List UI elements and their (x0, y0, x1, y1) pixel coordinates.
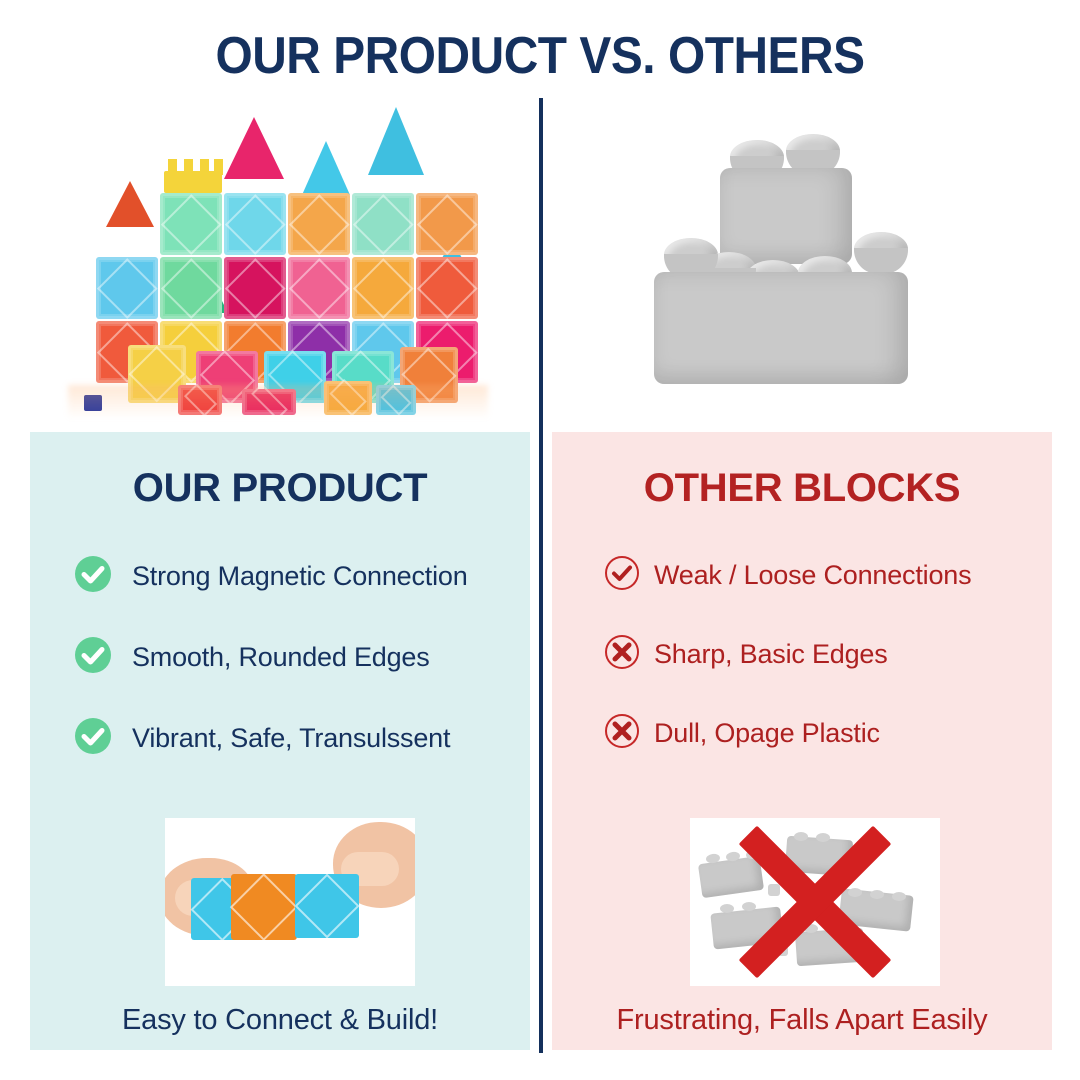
our-product-caption: Easy to Connect & Build! (30, 1004, 530, 1037)
list-item: Sharp, Basic Edges (604, 634, 1052, 675)
page-title: OUR PRODUCT VS. OTHERS (43, 26, 1037, 86)
hero-row (0, 92, 1080, 437)
list-item-label: Vibrant, Safe, Transulssent (132, 723, 450, 754)
list-item-label: Sharp, Basic Edges (654, 639, 888, 670)
list-item: Dull, Opage Plastic (604, 713, 1052, 754)
our-product-panel: OUR PRODUCT Strong Magnetic Connection (30, 432, 530, 1050)
castle-illustration (28, 92, 528, 419)
list-item-label: Smooth, Rounded Edges (132, 642, 430, 673)
mini-tile-orange (231, 874, 297, 940)
check-circle-outline-icon (604, 555, 640, 596)
check-circle-filled-icon (74, 555, 112, 598)
x-circle-outline-icon (604, 634, 640, 675)
other-blocks-feature-list: Weak / Loose Connections Sharp, Basic Ed… (552, 555, 1052, 754)
gray-bricks-illustration (648, 120, 968, 410)
list-item: Weak / Loose Connections (604, 555, 1052, 596)
other-blocks-panel: OTHER BLOCKS Weak / Loose Connections (552, 432, 1052, 1050)
check-circle-filled-icon (74, 717, 112, 760)
list-item-label: Strong Magnetic Connection (132, 561, 468, 592)
comparison-infographic: OUR PRODUCT VS. OTHERS (0, 0, 1080, 1080)
red-x-overlay (690, 818, 940, 986)
check-circle-filled-icon (74, 636, 112, 679)
list-item: Vibrant, Safe, Transulssent (74, 717, 530, 760)
our-product-heading: OUR PRODUCT (30, 466, 530, 511)
list-item: Smooth, Rounded Edges (74, 636, 530, 679)
hands-connecting-tiles-photo (165, 818, 415, 986)
list-item-label: Weak / Loose Connections (654, 560, 971, 591)
list-item-label: Dull, Opage Plastic (654, 718, 880, 749)
other-blocks-heading: OTHER BLOCKS (552, 466, 1052, 511)
mini-tile-cyan-right (295, 874, 359, 938)
magnetic-tiles-castle-image (28, 92, 528, 437)
broken-blocks-photo (690, 818, 940, 986)
our-product-feature-list: Strong Magnetic Connection Smooth, Round… (30, 555, 530, 760)
list-item: Strong Magnetic Connection (74, 555, 530, 598)
x-circle-outline-icon (604, 713, 640, 754)
gray-blocks-image (552, 92, 1052, 437)
other-blocks-caption: Frustrating, Falls Apart Easily (552, 1004, 1052, 1037)
